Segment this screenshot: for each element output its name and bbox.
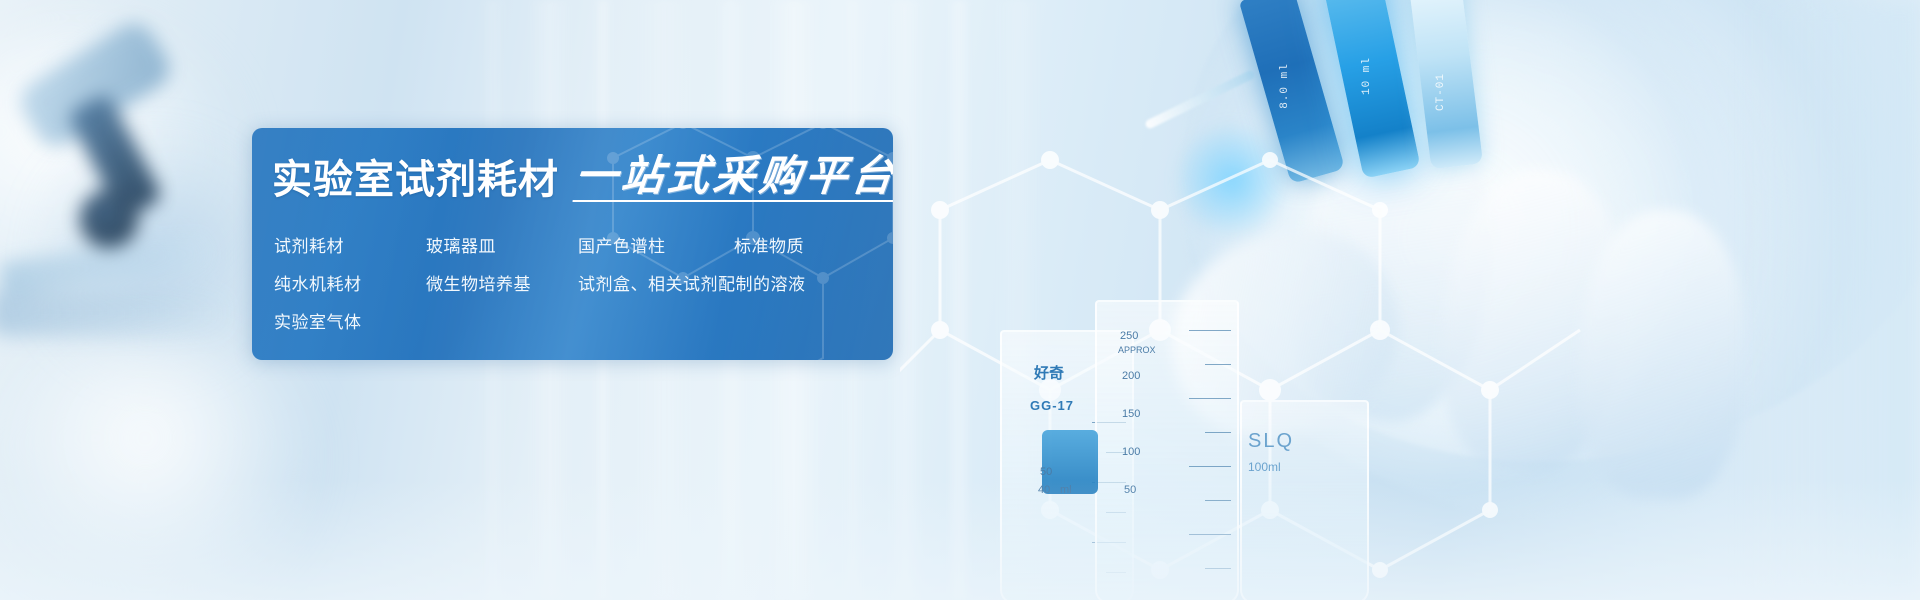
beaker-capacity-label: 100ml [1248, 460, 1281, 474]
category-item-reagent-kits-solutions[interactable]: 试剂盒、相关试剂配制的溶液 [578, 266, 806, 304]
graduation-100: 100 [1122, 446, 1140, 458]
headline-script: 一站式采购平台 [572, 154, 893, 202]
beaker-brand2-label: SLQ [1248, 430, 1294, 453]
category-row-2: 纯水机耗材 微生物培养基 试剂盒、相关试剂配制的溶液 [274, 266, 874, 304]
test-tube-2-label: 10 ml [1361, 57, 1373, 95]
microscope-base [0, 290, 230, 336]
graduation-250: 250 [1120, 330, 1138, 342]
promo-banner: 8.0 ml 10 ml CT-01 250 APPROX 200 150 10… [0, 0, 1920, 600]
beaker-graduation-tick [1205, 364, 1231, 365]
beaker-model-label: GG-17 [1030, 398, 1074, 413]
category-item-laboratory-gas[interactable]: 实验室气体 [274, 304, 426, 342]
test-tube-1-label: 8.0 ml [1279, 63, 1291, 109]
beaker-graduation-tick [1189, 466, 1231, 467]
beaker-graduation-tick [1205, 432, 1231, 433]
category-item-reagent-consumables[interactable]: 试剂耗材 [274, 228, 426, 266]
category-row-3: 实验室气体 [274, 304, 874, 342]
category-item-glassware[interactable]: 玻璃器皿 [426, 228, 578, 266]
graduation-200: 200 [1122, 370, 1140, 382]
graduation-150: 150 [1122, 408, 1140, 420]
category-item-reference-material[interactable]: 标准物质 [734, 228, 874, 266]
category-list: 试剂耗材 玻璃器皿 国产色谱柱 标准物质 纯水机耗材 微生物培养基 试剂盒、相关… [274, 228, 874, 342]
beaker-graduation-tick [1189, 330, 1231, 331]
promo-panel: 实验室试剂耗材 一站式采购平台 试剂耗材 玻璃器皿 国产色谱柱 标准物质 纯水机… [252, 128, 893, 360]
beaker-brand-label: 好奇 [1034, 362, 1064, 383]
category-item-domestic-chromatography-column[interactable]: 国产色谱柱 [578, 228, 734, 266]
category-item-microbial-culture-media[interactable]: 微生物培养基 [426, 266, 578, 304]
microscope-silhouette [0, 40, 270, 330]
test-tube-3-label: CT-01 [1435, 73, 1447, 111]
graduation-small-50: 50 [1040, 466, 1052, 478]
graduation-approx: APPROX [1118, 345, 1156, 355]
microscope-lens [80, 190, 138, 248]
category-row-1: 试剂耗材 玻璃器皿 国产色谱柱 标准物质 [274, 228, 874, 266]
bottom-haze [0, 480, 1920, 600]
beaker-graduation-tick [1189, 398, 1231, 399]
headline-main: 实验室试剂耗材 [272, 158, 559, 202]
category-item-water-purifier-consumables[interactable]: 纯水机耗材 [274, 266, 426, 304]
headline: 实验室试剂耗材 一站式采购平台 [272, 154, 893, 202]
